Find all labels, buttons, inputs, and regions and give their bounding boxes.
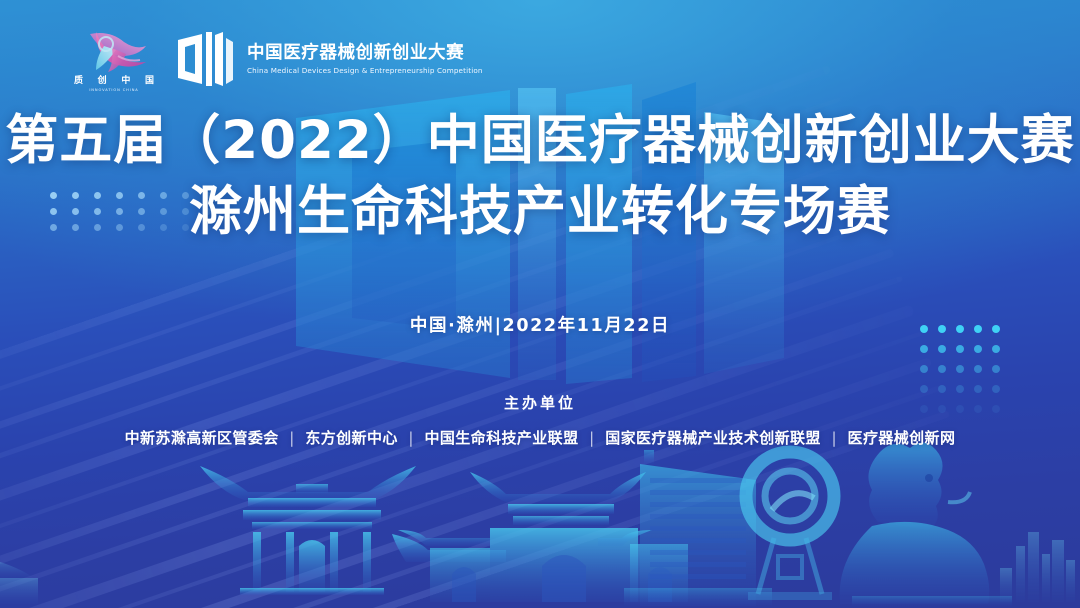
- poster-canvas: 质 创 中 国 INNOVATION CHINA 中国医疗器械创新创业大赛 Ch…: [0, 0, 1080, 608]
- event-date-location: 中国·滁州|2022年11月22日: [0, 312, 1080, 337]
- phoenix-bird-icon: [74, 26, 154, 74]
- host-separator: |: [826, 429, 841, 447]
- host-item-2: 中国生命科技产业联盟: [424, 429, 578, 447]
- logo-bar: 质 创 中 国 INNOVATION CHINA 中国医疗器械创新创业大赛 Ch…: [74, 26, 483, 92]
- competition-name-en: China Medical Devices Design & Entrepren…: [247, 66, 483, 75]
- innovation-china-english: INNOVATION CHINA: [74, 88, 154, 92]
- host-separator: |: [403, 429, 418, 447]
- circular-sculpture-icon: [746, 452, 834, 600]
- char-1: 创: [98, 77, 107, 86]
- innovation-china-logo: 质 创 中 国 INNOVATION CHINA: [74, 26, 154, 92]
- title-block: 第五届（2022）中国医疗器械创新创业大赛 滁州生命科技产业转化专场赛: [0, 110, 1080, 243]
- distant-city-skyline-icon: [1000, 532, 1075, 602]
- char-0: 质: [74, 77, 83, 86]
- host-item-0: 中新苏滁高新区管委会: [125, 429, 279, 447]
- page-title-line2: 滁州生命科技产业转化专场赛: [0, 181, 1080, 244]
- competition-name-zh: 中国医疗器械创新创业大赛: [247, 43, 483, 63]
- host-item-3: 国家医疗器械产业技术创新联盟: [605, 429, 821, 447]
- host-separator: |: [584, 429, 599, 447]
- chinese-pavilion-icon: [200, 466, 416, 595]
- innovation-china-characters: 质 创 中 国: [74, 77, 154, 86]
- page-title-line1: 第五届（2022）中国医疗器械创新创业大赛: [0, 110, 1080, 173]
- char-2: 中: [121, 77, 130, 86]
- host-item-4: 医疗器械创新网: [848, 429, 956, 447]
- char-3: 国: [145, 77, 154, 86]
- competition-logo: 中国医疗器械创新创业大赛 China Medical Devices Desig…: [174, 28, 483, 90]
- traditional-roof-icon: [0, 560, 38, 604]
- open-door-logo-icon: [174, 28, 236, 90]
- merlion-statue-icon: [840, 442, 1012, 606]
- host-item-1: 东方创新中心: [305, 429, 397, 447]
- hosts-label: 主办单位: [0, 392, 1080, 413]
- host-separator: |: [284, 429, 299, 447]
- hosts-list: 中新苏滁高新区管委会 | 东方创新中心 | 中国生命科技产业联盟 | 国家医疗器…: [0, 427, 1080, 448]
